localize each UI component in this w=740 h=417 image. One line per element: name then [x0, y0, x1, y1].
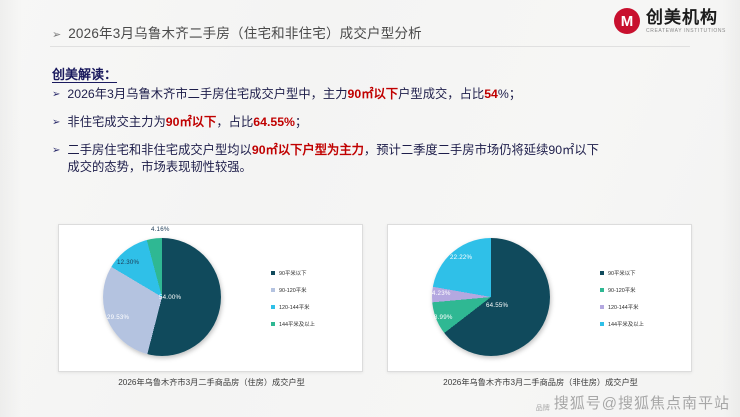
brand-name-en: CREATEWAY INSTITUTIONS [646, 29, 726, 34]
pie-slice-label: 64.55% [486, 302, 508, 309]
highlighted-figure: 54 [484, 87, 498, 101]
analysis-bullet: ➢2026年3月乌鲁木齐市二手房住宅成交户型中，主力90㎡以下户型成交，占比54… [52, 86, 712, 104]
brand-logo: M 创美机构 CREATEWAY INSTITUTIONS [614, 8, 726, 34]
legend-item[interactable]: 144平米及以上 [271, 320, 361, 328]
bullet-arrow-icon: ➢ [52, 114, 60, 131]
chart-card-group: 54.00%29.53%12.30%4.16%90平米以下90-120平米120… [58, 224, 692, 372]
analysis-bullet-continuation: 成交的态势，市场表现韧性较强。 [67, 159, 712, 177]
analysis-bullet-text: 2026年3月乌鲁木齐市二手房住宅成交户型中，主力90㎡以下户型成交，占比54%… [67, 86, 712, 104]
legend-label: 144平米及以上 [279, 320, 315, 328]
legend-swatch-icon [600, 271, 604, 275]
legend-item[interactable]: 90平米以下 [600, 269, 690, 277]
legend-label: 120-144平米 [608, 303, 639, 311]
legend-item[interactable]: 144平米及以上 [600, 320, 690, 328]
legend-swatch-icon [600, 305, 604, 309]
pie-slice-label: 22.22% [450, 254, 472, 261]
chart-card: 64.55%8.99%4.23%22.22%90平米以下90-120平米120-… [387, 224, 692, 372]
legend-item[interactable]: 120-144平米 [600, 303, 690, 311]
page-title-text: 2026年3月乌鲁木齐二手房（住宅和非住宅）成交户型分析 [68, 22, 422, 42]
bullet-text-run: 非住宅成交主力为 [67, 115, 165, 129]
pie-slice-label: 29.53% [107, 314, 129, 321]
bullet-arrow-icon: ➢ [52, 142, 60, 159]
watermark-prefix: 品牌 [536, 403, 550, 413]
title-divider [50, 46, 690, 47]
legend-label: 120-144平米 [279, 303, 310, 311]
legend-item[interactable]: 120-144平米 [271, 303, 361, 311]
watermark: 品牌 搜狐号@搜狐焦点南平站 [536, 392, 730, 413]
legend-swatch-icon [600, 322, 604, 326]
analysis-bullet: ➢二手房住宅和非住宅成交户型均以90㎡以下户型为主力，预计二季度二手房市场仍将延… [52, 142, 712, 178]
chart-caption: 2026年乌鲁木齐市3月二手商品房（住房）成交户型 [59, 376, 364, 388]
highlighted-figure: 90㎡以下 [348, 87, 399, 101]
watermark-text: 搜狐号@搜狐焦点南平站 [554, 392, 730, 413]
bullet-text-run: ； [295, 115, 307, 129]
bullet-arrow-icon: ➢ [52, 30, 61, 41]
slide-page: M 创美机构 CREATEWAY INSTITUTIONS ➢ 2026年3月乌… [0, 0, 740, 417]
legend-label: 144平米及以上 [608, 320, 644, 328]
pie-slice-label: 12.30% [117, 259, 139, 266]
bullet-text-run: 2026年3月乌鲁木齐市二手房住宅成交户型中，主力 [67, 87, 347, 101]
analysis-section-label: 创美解读： [52, 64, 117, 83]
chart-card: 54.00%29.53%12.30%4.16%90平米以下90-120平米120… [58, 224, 363, 372]
legend-swatch-icon [271, 305, 275, 309]
legend-item[interactable]: 90平米以下 [271, 269, 361, 277]
legend-swatch-icon [271, 322, 275, 326]
legend-item[interactable]: 90-120平米 [271, 286, 361, 294]
legend-swatch-icon [271, 271, 275, 275]
logo-mark-icon: M [614, 8, 640, 34]
chart-caption: 2026年乌鲁木齐市3月二手商品房（非住房）成交户型 [388, 376, 693, 388]
analysis-bullet: ➢非住宅成交主力为90㎡以下，占比64.55%； [52, 114, 712, 132]
page-title: ➢ 2026年3月乌鲁木齐二手房（住宅和非住宅）成交户型分析 [52, 22, 422, 42]
pie-slice-label: 4.23% [432, 290, 451, 297]
highlighted-figure: 64.55% [253, 115, 295, 129]
highlighted-figure: 90㎡以下 [166, 115, 217, 129]
legend-label: 90平米以下 [608, 269, 636, 277]
analysis-bullet-text: 二手房住宅和非住宅成交户型均以90㎡以下户型为主力，预计二季度二手房市场仍将延续… [67, 142, 712, 178]
highlighted-figure: 90㎡以下户型为主力 [252, 143, 364, 157]
bullet-text-run: %； [498, 87, 521, 101]
legend-label: 90平米以下 [279, 269, 307, 277]
bullet-arrow-icon: ➢ [52, 86, 60, 103]
bullet-text-run: 二手房住宅和非住宅成交户型均以 [67, 143, 251, 157]
chart-legend: 90平米以下90-120平米120-144平米144平米及以上 [269, 269, 361, 328]
legend-label: 90-120平米 [279, 286, 307, 294]
analysis-bullet-list: ➢2026年3月乌鲁木齐市二手房住宅成交户型中，主力90㎡以下户型成交，占比54… [52, 86, 712, 187]
brand-name-cn: 创美机构 [646, 9, 726, 26]
legend-item[interactable]: 90-120平米 [600, 286, 690, 294]
legend-swatch-icon [271, 288, 275, 292]
bullet-text-run: ，占比 [216, 115, 253, 129]
bullet-text-run: ，预计二季度二手房市场仍将延续90㎡以下 [364, 143, 599, 157]
legend-swatch-icon [600, 288, 604, 292]
analysis-bullet-text: 非住宅成交主力为90㎡以下，占比64.55%； [67, 114, 712, 132]
pie-slice-label: 54.00% [159, 294, 181, 301]
legend-label: 90-120平米 [608, 286, 636, 294]
bullet-text-run: 户型成交，占比 [398, 87, 484, 101]
brand-text: 创美机构 CREATEWAY INSTITUTIONS [646, 9, 726, 34]
pie-chart: 54.00%29.53%12.30%4.16% [59, 224, 269, 372]
pie-chart: 64.55%8.99%4.23%22.22% [388, 224, 598, 372]
chart-legend: 90平米以下90-120平米120-144平米144平米及以上 [598, 269, 690, 328]
pie-slice-label: 8.99% [434, 314, 453, 321]
pie-slice-label: 4.16% [151, 226, 170, 233]
